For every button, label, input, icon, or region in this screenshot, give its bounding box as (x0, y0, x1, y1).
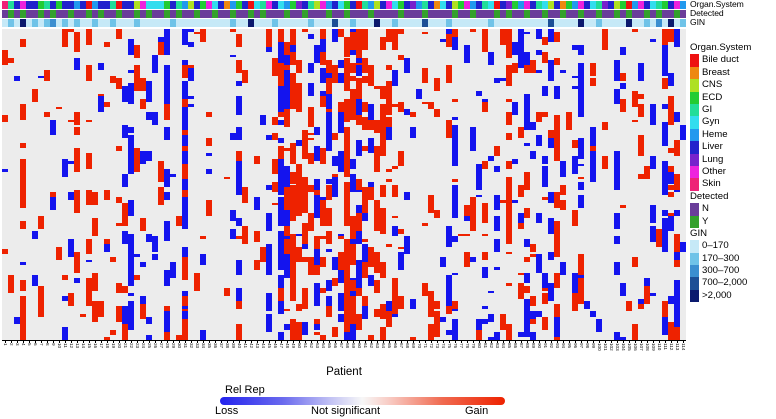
legend-item-gin[interactable]: >2,000 (690, 290, 776, 302)
legend-label: 0–170 (702, 240, 729, 252)
x-axis-tick-label: 103 (614, 343, 619, 351)
x-axis-tick-label: 112 (668, 343, 673, 350)
legend-swatch (690, 290, 699, 302)
legend-item-organ-system[interactable]: Heme (690, 129, 776, 141)
legend-swatch (690, 216, 699, 228)
x-axis-tick-label: 37 (218, 343, 223, 348)
x-axis-tick-label: 93 (554, 343, 559, 348)
legend-label: Bile duct (702, 54, 739, 66)
legend-swatch (690, 154, 699, 166)
x-axis-tick-label: 26 (152, 343, 157, 348)
x-axis-tick-label: 105 (626, 343, 631, 351)
color-key-mid-label: Not significant (311, 405, 380, 417)
legend-title-organ-system: Organ.System (690, 42, 776, 54)
x-axis-tick-label: 20 (116, 343, 121, 348)
x-axis-tick-label: 99 (590, 343, 595, 348)
x-axis-tick-label: 90 (536, 343, 541, 348)
x-axis-tick-label: 71 (422, 343, 427, 348)
legend-title-detected: Detected (690, 191, 776, 203)
x-axis-tick-label: 66 (392, 343, 397, 348)
heatmap-cell (680, 130, 686, 140)
x-axis-tick-label: 45 (266, 343, 271, 348)
x-axis-tick-label: 13 (74, 343, 79, 348)
x-axis-tick-label: 89 (530, 343, 535, 348)
x-axis-tick-label: 17 (98, 343, 103, 348)
legend-swatch (690, 116, 699, 128)
legend-label: Gyn (702, 116, 720, 128)
x-axis-tick-label: 111 (662, 343, 667, 350)
legend-item-gin[interactable]: 700–2,000 (690, 277, 776, 289)
x-axis-tick-label: 41 (242, 343, 247, 348)
annotation-cell-gin (680, 19, 686, 27)
legend-item-gin[interactable]: 170–300 (690, 253, 776, 265)
color-key-high-label: Gain (465, 405, 488, 417)
x-axis-tick-label: 25 (146, 343, 151, 348)
x-axis-tick-label: 97 (578, 343, 583, 348)
legend-label: ECD (702, 92, 722, 104)
color-key-gradient-bar (220, 397, 505, 405)
x-axis-tick-label: 61 (362, 343, 367, 348)
x-axis-tick-label: 54 (320, 343, 325, 348)
legend-swatch (690, 104, 699, 116)
annotation-cell-detected (680, 10, 686, 18)
x-axis-tick-label: 35 (206, 343, 211, 348)
legend-swatch (690, 265, 699, 277)
legend-label: Y (702, 216, 708, 228)
x-axis-tick-label: 101 (602, 343, 607, 351)
legend-label: >2,000 (702, 290, 732, 302)
legend-label: Liver (702, 141, 723, 153)
legend-label: 300–700 (702, 265, 739, 277)
x-axis-tick-label: 72 (428, 343, 433, 348)
x-axis-tick-label: 47 (278, 343, 283, 348)
x-axis-tick-label: 52 (308, 343, 313, 348)
legend-item-organ-system[interactable]: Other (690, 166, 776, 178)
x-axis-tick-label: 59 (350, 343, 355, 348)
legend-item-organ-system[interactable]: CNS (690, 79, 776, 91)
legend-item-organ-system[interactable]: Skin (690, 178, 776, 190)
x-axis-tick-label: 60 (356, 343, 361, 348)
legend-label: Lung (702, 154, 723, 166)
x-axis-tick-label: 33 (194, 343, 199, 348)
x-axis-tick-label: 19 (110, 343, 115, 348)
x-axis-tick-label: 42 (248, 343, 253, 348)
x-axis-tick-label: 1 (2, 343, 7, 346)
x-axis-tick-label: 39 (230, 343, 235, 348)
x-axis-tick-label: 55 (326, 343, 331, 348)
x-axis-tick-label: 4 (20, 343, 25, 346)
legend-item-organ-system[interactable]: Bile duct (690, 54, 776, 66)
legend-swatch (690, 253, 699, 265)
legend-label: Other (702, 166, 726, 178)
legend-item-detected[interactable]: Y (690, 216, 776, 228)
legend-item-gin[interactable]: 300–700 (690, 265, 776, 277)
heatmap-plot[interactable] (2, 29, 686, 340)
legend-swatch (690, 178, 699, 190)
x-axis-tick-label: 114 (680, 343, 685, 350)
x-axis-tick-label: 95 (566, 343, 571, 348)
x-axis-tick-label: 53 (314, 343, 319, 348)
legend-swatch (690, 79, 699, 91)
legend-swatch (690, 277, 699, 289)
x-axis-tick-label: 109 (650, 343, 655, 351)
x-axis-tick-label: 28 (164, 343, 169, 348)
x-axis-tick-label: 36 (212, 343, 217, 348)
x-axis-tick-label: 50 (296, 343, 301, 348)
x-axis-tick-label: 62 (368, 343, 373, 348)
x-axis-tick-label: 100 (596, 343, 601, 351)
legend-swatch (690, 54, 699, 66)
x-axis-tick-label: 108 (644, 343, 649, 351)
x-axis-tick-label: 88 (524, 343, 529, 348)
x-axis-tick-label: 27 (158, 343, 163, 348)
legend-swatch (690, 240, 699, 252)
x-axis-tick-label: 31 (182, 343, 187, 348)
legend-label: Breast (702, 67, 730, 79)
color-key-title: Rel Rep (225, 384, 265, 396)
annotation-track-organ-system (2, 1, 686, 9)
x-axis-tick-label: 77 (458, 343, 463, 348)
legend-item-gin[interactable]: 0–170 (690, 240, 776, 252)
x-axis-tick-label: 56 (332, 343, 337, 348)
x-axis-tick-label: 96 (572, 343, 577, 348)
x-axis-tick-label: 86 (512, 343, 517, 348)
annotation-track-gin (2, 19, 686, 27)
x-axis-tick-label: 107 (638, 343, 643, 351)
x-axis-tick-label: 74 (440, 343, 445, 348)
x-axis-tick-label: 51 (302, 343, 307, 348)
x-axis-tick-label: 48 (284, 343, 289, 348)
legend-title-gin: GIN (690, 228, 776, 240)
x-axis-tick-label: 32 (188, 343, 193, 348)
x-axis-tick-label: 12 (68, 343, 73, 348)
x-axis-tick-label: 68 (404, 343, 409, 348)
x-axis-tick-label: 9 (50, 343, 55, 346)
x-axis-tick-label: 98 (584, 343, 589, 348)
x-axis-tick-label: 76 (452, 343, 457, 348)
x-axis-title: Patient (2, 366, 686, 378)
legend-item-organ-system[interactable]: Lung (690, 154, 776, 166)
x-axis-tick-label: 8 (44, 343, 49, 346)
legend-swatch (690, 141, 699, 153)
x-axis-tick-label: 44 (260, 343, 265, 348)
x-axis-tick-label: 21 (122, 343, 127, 348)
x-axis-tick-label: 82 (488, 343, 493, 348)
legend-label: CNS (702, 79, 722, 91)
x-axis-tick-label: 104 (620, 343, 625, 351)
legend-item-organ-system[interactable]: Liver (690, 141, 776, 153)
x-axis-tick-label: 23 (134, 343, 139, 348)
x-axis-tick-label: 92 (548, 343, 553, 348)
x-axis-tick-label: 43 (254, 343, 259, 348)
legend-item-organ-system[interactable]: GI (690, 104, 776, 116)
x-axis-tick-label: 14 (80, 343, 85, 348)
x-axis-tick-label: 94 (560, 343, 565, 348)
color-key-low-label: Loss (215, 405, 238, 417)
x-axis-tick-label: 57 (338, 343, 343, 348)
color-key-rel-rep: Rel Rep Loss Not significant Gain (215, 384, 515, 416)
legend-item-organ-system[interactable]: Breast (690, 67, 776, 79)
legend-label: 170–300 (702, 253, 739, 265)
x-axis-tick-label: 22 (128, 343, 133, 348)
x-axis-tick-label: 80 (476, 343, 481, 348)
x-axis-tick-label: 58 (344, 343, 349, 348)
x-axis-tick-label: 3 (14, 343, 19, 346)
x-axis-tick-label: 69 (410, 343, 415, 348)
legend-item-organ-system[interactable]: Gyn (690, 116, 776, 128)
x-axis-tick-label: 113 (674, 343, 679, 350)
legend-label: GI (702, 104, 712, 116)
annotation-cell-organ (680, 1, 686, 9)
x-axis-tick-label: 15 (86, 343, 91, 348)
x-axis-line (2, 340, 686, 341)
x-axis-tick-label: 18 (104, 343, 109, 348)
legend-label: N (702, 203, 709, 215)
heatmap-column[interactable] (680, 29, 686, 340)
x-axis-tick-label: 85 (506, 343, 511, 348)
x-axis-tick-label: 24 (140, 343, 145, 348)
x-axis-tick-label: 102 (608, 343, 613, 351)
x-axis-tick-label: 81 (482, 343, 487, 348)
legend-swatch (690, 203, 699, 215)
legend-swatch (690, 166, 699, 178)
x-axis-tick-label: 38 (224, 343, 229, 348)
x-axis-tick-label: 49 (290, 343, 295, 348)
x-axis-tick-label: 73 (434, 343, 439, 348)
x-axis-tick-label: 7 (38, 343, 43, 346)
legend-label: Heme (702, 129, 728, 141)
legend-label: 700–2,000 (702, 277, 747, 289)
x-axis-tick-label: 79 (470, 343, 475, 348)
x-axis-tick-label: 75 (446, 343, 451, 348)
x-axis-tick-label: 5 (26, 343, 31, 346)
legend-label: Skin (702, 178, 721, 190)
x-axis-tick-label: 91 (542, 343, 547, 348)
legend-swatch (690, 67, 699, 79)
heatmap-cell (680, 242, 686, 252)
x-axis-tick-label: 106 (632, 343, 637, 351)
x-axis-tick-label: 63 (374, 343, 379, 348)
annotation-label-gin: GIN (690, 18, 776, 27)
x-axis-tick-label: 67 (398, 343, 403, 348)
x-axis-tick-label: 83 (494, 343, 499, 348)
x-axis-tick-label: 2 (8, 343, 13, 346)
legend-item-detected[interactable]: N (690, 203, 776, 215)
x-axis-tick-label: 84 (500, 343, 505, 348)
x-axis-tick-label: 110 (656, 343, 661, 350)
x-axis-tick-label: 65 (386, 343, 391, 348)
legend-swatch (690, 129, 699, 141)
x-axis-tick-label: 87 (518, 343, 523, 348)
x-axis-tick-label: 11 (62, 343, 67, 348)
x-axis-tick-label: 70 (416, 343, 421, 348)
x-axis-tick-label: 10 (56, 343, 61, 348)
annotation-track-detected (2, 10, 686, 18)
x-axis-tick-label: 6 (32, 343, 37, 346)
x-axis-tick-label: 78 (464, 343, 469, 348)
legend-panel: Organ.SystemBile ductBreastCNSECDGIGynHe… (690, 42, 776, 302)
x-axis-tick-label: 30 (176, 343, 181, 348)
annotation-track-labels: Organ.System Detected GIN (690, 0, 776, 28)
x-axis-tick-label: 64 (380, 343, 385, 348)
x-axis-tick-label: 29 (170, 343, 175, 348)
x-axis-tick-label: 16 (92, 343, 97, 348)
x-axis-tick-label: 34 (200, 343, 205, 348)
x-axis-tick-label: 46 (272, 343, 277, 348)
legend-item-organ-system[interactable]: ECD (690, 92, 776, 104)
color-key-labels: Loss Not significant Gain (215, 405, 515, 419)
legend-swatch (690, 92, 699, 104)
x-axis-tick-label: 40 (236, 343, 241, 348)
